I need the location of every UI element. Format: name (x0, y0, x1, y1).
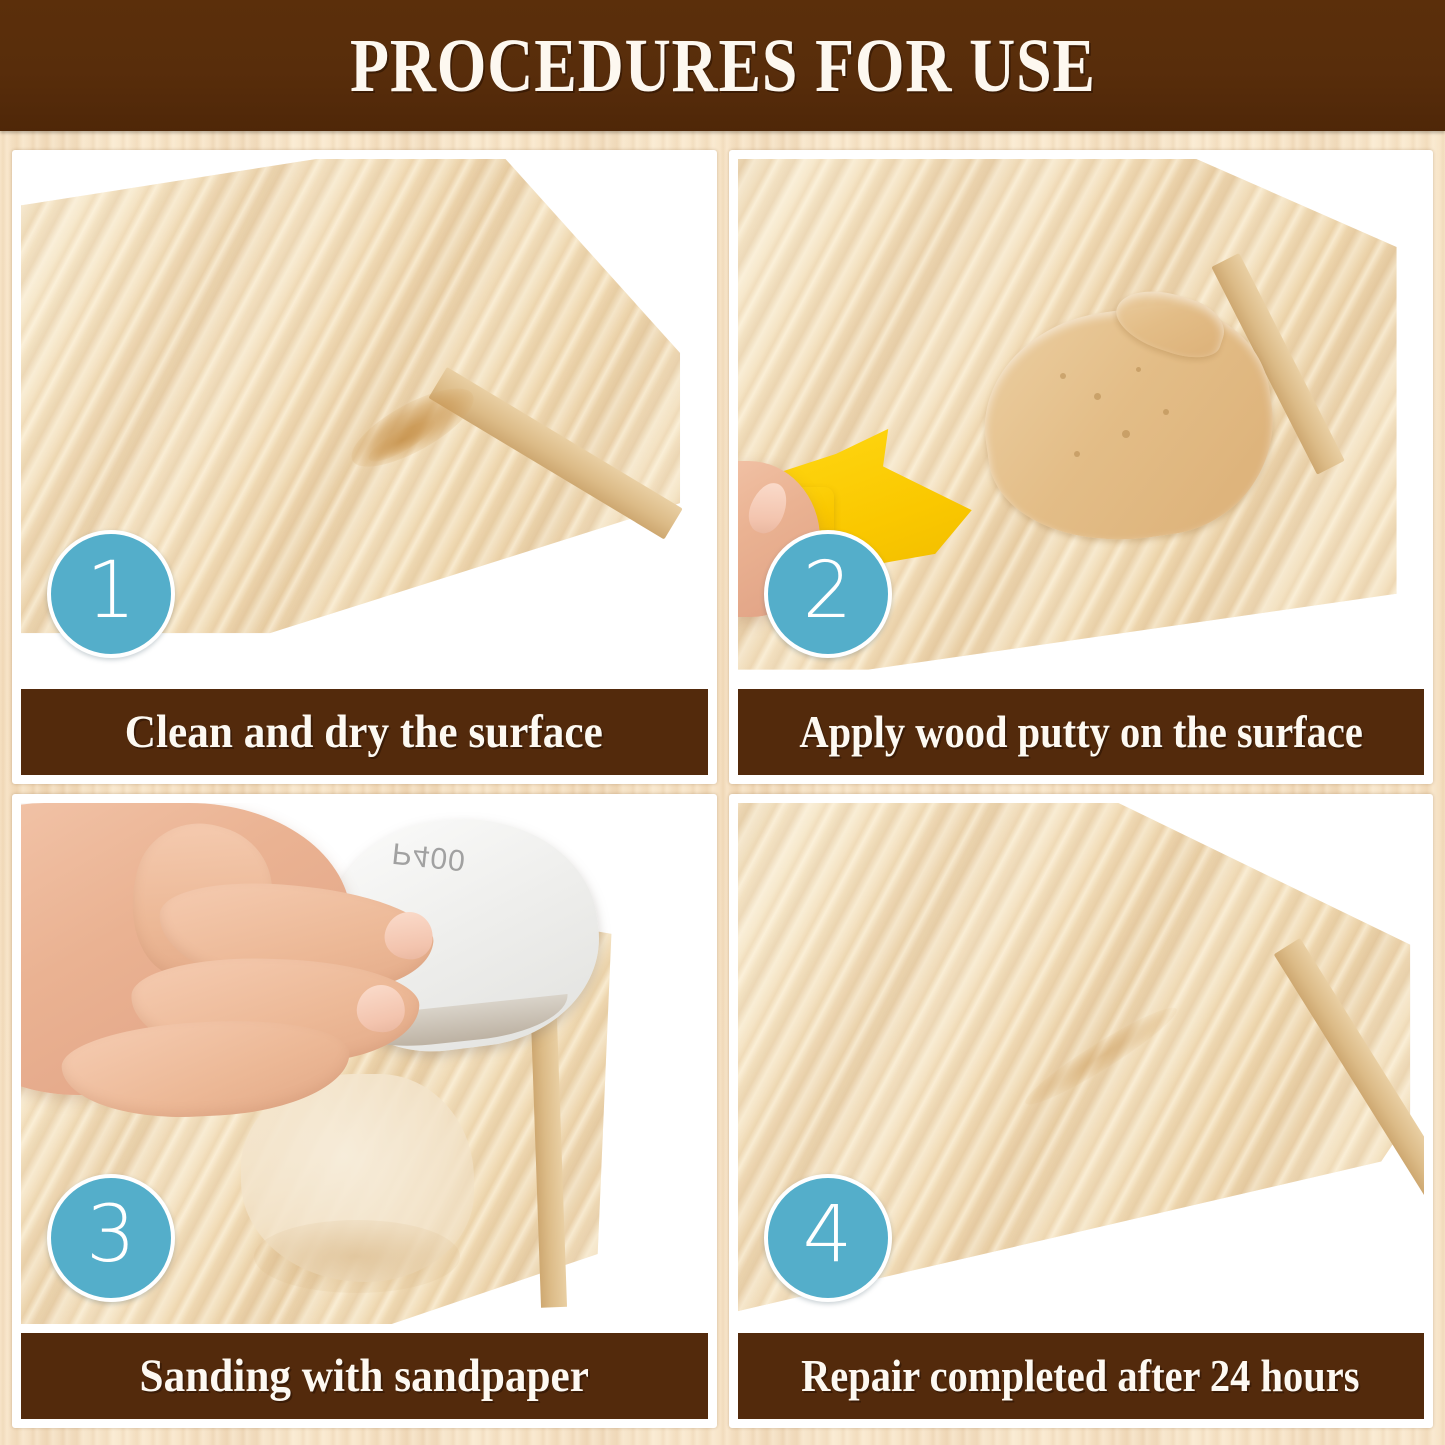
step-caption-bar-1: Clean and dry the surface (21, 689, 708, 775)
step-badge-2: 2 (764, 530, 892, 658)
step-caption-bar-2: Apply wood putty on the surface (738, 689, 1425, 775)
steps-grid: 1 Clean and dry the surface (12, 150, 1433, 1428)
procedures-infographic: PROCEDURES FOR USE 1 Clean and dry the s… (0, 0, 1445, 1445)
step-number-label: 1 (86, 552, 136, 630)
step-badge-4: 4 (764, 1174, 892, 1302)
step-caption-text: Repair completed after 24 hours (802, 1353, 1360, 1399)
putty-speck (1060, 373, 1066, 379)
step-photo-1: 1 (21, 159, 708, 680)
step-card-1[interactable]: 1 Clean and dry the surface (12, 150, 717, 784)
step-caption-text: Clean and dry the surface (125, 709, 603, 756)
step-card-2[interactable]: 2 Apply wood putty on the surface (729, 150, 1434, 784)
step-card-4[interactable]: 4 Repair completed after 24 hours (729, 794, 1434, 1428)
step-number-label: 4 (803, 1196, 853, 1274)
sanding-dust (254, 1220, 460, 1293)
step-badge-3: 3 (47, 1174, 175, 1302)
header-bar: PROCEDURES FOR USE (0, 0, 1445, 131)
step-number-label: 3 (86, 1196, 136, 1274)
step-photo-2: 2 (738, 159, 1425, 680)
step-caption-text: Apply wood putty on the surface (799, 709, 1362, 755)
step-photo-3: P400 3 (21, 803, 708, 1324)
step-caption-bar-4: Repair completed after 24 hours (738, 1333, 1425, 1419)
putty-speck (1122, 430, 1130, 438)
putty-speck (1074, 451, 1080, 457)
step-caption-text: Sanding with sandpaper (140, 1353, 589, 1400)
step-number-label: 2 (803, 552, 853, 630)
step-caption-bar-3: Sanding with sandpaper (21, 1333, 708, 1419)
step-photo-4: 4 (738, 803, 1425, 1324)
page-title: PROCEDURES FOR USE (350, 28, 1096, 104)
step-badge-1: 1 (47, 530, 175, 658)
step-card-3[interactable]: P400 3 Sanding with sandpaper (12, 794, 717, 1428)
